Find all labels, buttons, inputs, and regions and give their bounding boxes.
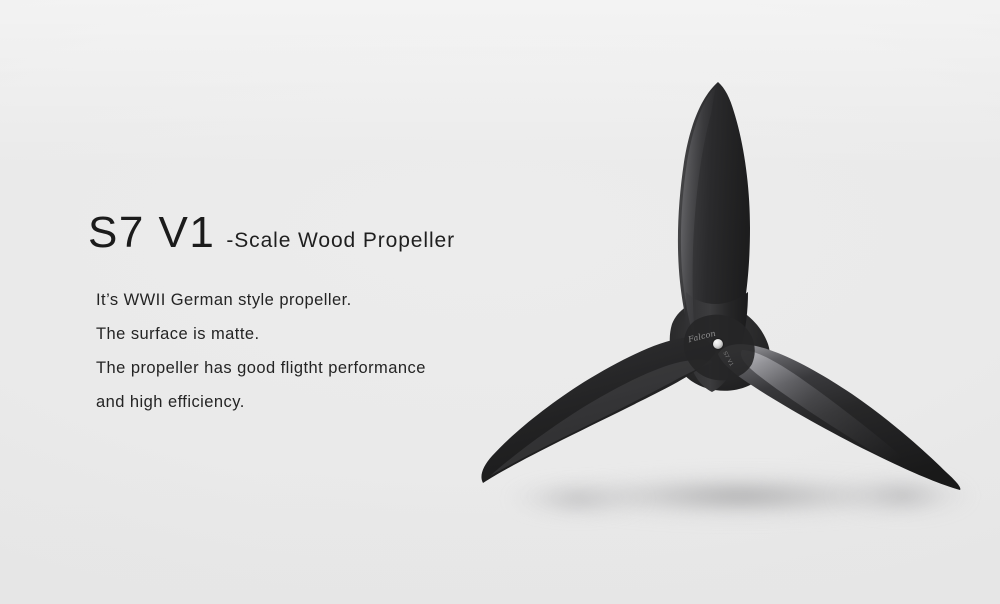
description-line: The propeller has good fligtht performan… <box>96 351 518 385</box>
product-description-list: It’s WWII German style propeller. The su… <box>96 283 518 419</box>
description-line: and high efficiency. <box>96 385 518 419</box>
product-banner: S7 V1 -Scale Wood Propeller It’s WWII Ge… <box>0 0 1000 604</box>
description-line: The surface is matte. <box>96 317 518 351</box>
product-heading: S7 V1 -Scale Wood Propeller <box>88 210 518 256</box>
description-line: It’s WWII German style propeller. <box>96 283 518 317</box>
product-subtitle: -Scale Wood Propeller <box>226 229 455 253</box>
page-title: S7 V1 <box>88 210 215 256</box>
product-text-block: S7 V1 -Scale Wood Propeller It’s WWII Ge… <box>88 210 518 419</box>
